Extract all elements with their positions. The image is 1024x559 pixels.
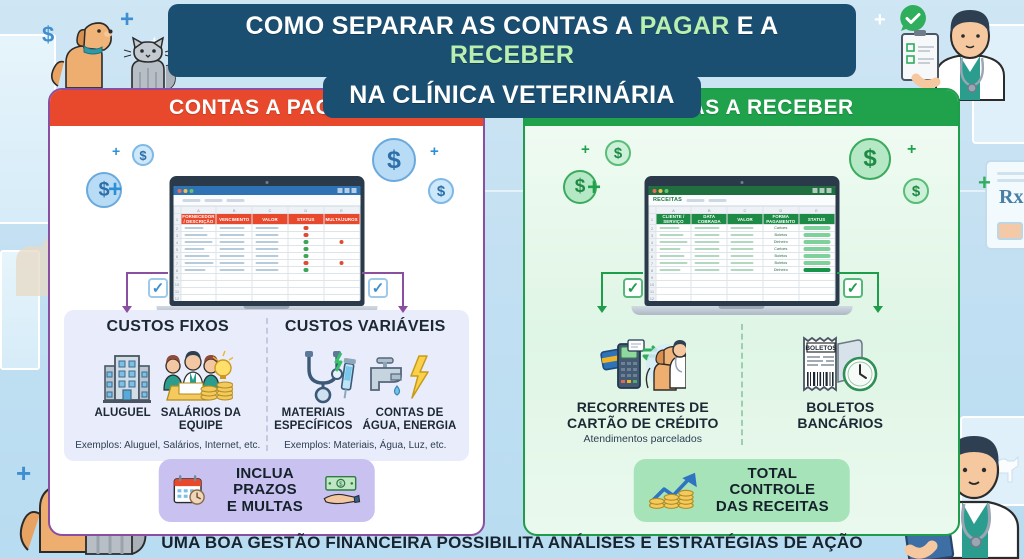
table-row[interactable]: 4 bbox=[174, 239, 360, 246]
icon-label-materiais: MATERIAISESPECÍFICOS bbox=[274, 407, 352, 433]
cell-forma-pagamento: Boletos bbox=[763, 260, 799, 267]
plus-icon: + bbox=[907, 142, 916, 158]
plus-icon: + bbox=[430, 144, 439, 159]
cell-forma-pagamento: Cartoes bbox=[763, 246, 799, 253]
minimize-dot-icon[interactable] bbox=[183, 189, 187, 193]
category-example-variaveis: Exemplos: Materiais, Água, Luz, etc. bbox=[284, 440, 446, 451]
column-letter: E bbox=[799, 207, 835, 214]
plus-icon: + bbox=[112, 144, 120, 158]
table-row[interactable]: 2Cartoes bbox=[649, 225, 835, 232]
maximize-dot-icon[interactable] bbox=[189, 189, 193, 193]
column-header-forma: FORMA PAGAMENTO bbox=[763, 214, 799, 225]
column-letter: A bbox=[656, 207, 692, 214]
column-header-status: STATUS bbox=[799, 214, 835, 225]
stethoscope-syringe-icon bbox=[301, 349, 359, 404]
title-highlight-receber: RECEBER bbox=[450, 41, 574, 69]
row-number: 6 bbox=[649, 253, 656, 260]
boleto-label: BOLETOS bbox=[806, 345, 838, 352]
category-cartao-credito: RECORRENTES DECARTÃO DE CRÉDITO Atendime… bbox=[545, 324, 741, 445]
title-part-2: E A bbox=[730, 12, 779, 40]
dollar-coin-icon: $ bbox=[849, 138, 891, 180]
plus-icon: + bbox=[581, 142, 590, 157]
row-number: 1 bbox=[174, 214, 181, 225]
plus-icon: + bbox=[587, 176, 601, 200]
cell-fornecedor bbox=[181, 253, 217, 260]
column-header-valor: VALOR bbox=[252, 214, 288, 225]
cell-multa bbox=[324, 239, 360, 246]
cell-valor bbox=[252, 225, 288, 232]
column-header-status: STATUS bbox=[288, 214, 324, 225]
checkbox-icon[interactable]: ✓ bbox=[843, 278, 863, 298]
table-row[interactable]: 7 bbox=[174, 260, 360, 267]
cell-valor bbox=[727, 239, 763, 246]
cell-valor bbox=[727, 246, 763, 253]
dollar-coin-icon: $ bbox=[605, 140, 631, 166]
cell-fornecedor bbox=[181, 225, 217, 232]
checkbox-icon[interactable]: ✓ bbox=[368, 278, 388, 298]
connector-lines-receber bbox=[525, 272, 962, 312]
sheet-name-receitas: RECEITAS bbox=[653, 197, 682, 203]
cell-multa bbox=[324, 246, 360, 253]
rx-symbol: Rx bbox=[999, 186, 1023, 209]
cell-status bbox=[799, 246, 835, 253]
table-row[interactable]: 3Boletos bbox=[649, 232, 835, 239]
spreadsheet-toolbar bbox=[173, 195, 360, 206]
cell-valor bbox=[727, 232, 763, 239]
cash-in-hand-icon: $ bbox=[323, 471, 361, 509]
column-letter: D bbox=[763, 207, 799, 214]
table-row[interactable]: 6 bbox=[174, 253, 360, 260]
table-row[interactable]: 3 bbox=[174, 232, 360, 239]
cell-fornecedor bbox=[181, 232, 217, 239]
cell-status bbox=[288, 225, 324, 232]
cell-cliente bbox=[656, 246, 692, 253]
cell-status bbox=[799, 239, 835, 246]
toolbar-item[interactable] bbox=[708, 199, 726, 202]
column-header-vencimento: VENCIMENTO bbox=[216, 214, 252, 225]
card-terminal-vet-dog-icon bbox=[600, 336, 686, 396]
calendar-clock-icon bbox=[172, 470, 207, 510]
row-number: 1 bbox=[649, 214, 656, 225]
cell-data bbox=[691, 232, 727, 239]
category-example-fixos: Exemplos: Aluguel, Salários, Internet, e… bbox=[75, 440, 260, 451]
webcam-icon bbox=[740, 181, 743, 184]
cell-valor bbox=[252, 246, 288, 253]
panel-receber-body: $ $ + + $ $ + + bbox=[525, 126, 958, 536]
boleto-clock-icon: BOLETOS bbox=[800, 334, 880, 396]
callout-line-1: INCLUA PRAZOS bbox=[233, 465, 297, 499]
title-line-2: NA CLÍNICA VETERINÁRIA bbox=[323, 75, 701, 118]
cell-data bbox=[691, 239, 727, 246]
callout-line-1: TOTAL CONTROLE bbox=[729, 465, 815, 499]
row-number: 5 bbox=[649, 246, 656, 253]
category-title: CUSTOS FIXOS bbox=[107, 318, 229, 336]
column-letter: B bbox=[216, 207, 252, 214]
cell-forma-pagamento: Boletos bbox=[763, 253, 799, 260]
category-sub-cartao: Atendimentos parcelados bbox=[584, 433, 703, 445]
cell-status bbox=[288, 239, 324, 246]
window-titlebar bbox=[173, 186, 360, 195]
cell-data bbox=[691, 253, 727, 260]
callout-line-2: E MULTAS bbox=[227, 498, 303, 515]
category-title: CUSTOS VARIÁVEIS bbox=[285, 318, 446, 336]
plus-icon: + bbox=[978, 172, 991, 194]
cell-status bbox=[288, 260, 324, 267]
spreadsheet-toolbar: RECEITAS bbox=[648, 195, 835, 206]
categories-pagar: CUSTOS FIXOS bbox=[64, 310, 469, 461]
cell-valor bbox=[252, 253, 288, 260]
cell-multa bbox=[324, 260, 360, 267]
cell-vencimento bbox=[216, 225, 252, 232]
row-number: 7 bbox=[174, 260, 181, 267]
close-dot-icon[interactable] bbox=[177, 189, 181, 193]
cell-valor bbox=[727, 253, 763, 260]
footer-text: UMA BOA GESTÃO FINANCEIRA POSSIBILITA AN… bbox=[0, 533, 1024, 553]
row-number: 3 bbox=[649, 232, 656, 239]
table-row[interactable]: 5 bbox=[174, 246, 360, 253]
callout-total-controle: TOTAL CONTROLE DAS RECEITAS bbox=[633, 459, 850, 523]
dollar-coin-icon: $ bbox=[132, 144, 154, 166]
row-number: 2 bbox=[649, 225, 656, 232]
row-number: 4 bbox=[174, 239, 181, 246]
column-letter-row: A B C D E bbox=[649, 207, 835, 214]
cell-forma-pagamento: Dinheiro bbox=[763, 239, 799, 246]
toolbar-item[interactable] bbox=[226, 199, 244, 202]
icon-label-contas-agua: CONTAS DEÁGUA, ENERGIA bbox=[362, 407, 456, 433]
column-letter: E bbox=[324, 207, 360, 214]
cell-data bbox=[691, 246, 727, 253]
title-banner: COMO SEPARAR AS CONTAS A PAGAR E A RECEB… bbox=[168, 4, 856, 118]
cell-cliente bbox=[656, 225, 692, 232]
toolbar-item[interactable] bbox=[182, 199, 200, 202]
cell-multa bbox=[324, 232, 360, 239]
cell-status bbox=[288, 232, 324, 239]
cell-fornecedor bbox=[181, 246, 217, 253]
row-number: 5 bbox=[174, 246, 181, 253]
toolbar-item[interactable] bbox=[686, 199, 704, 202]
column-header-cliente: CLIENTE / SERVIÇO bbox=[656, 214, 692, 225]
cell-vencimento bbox=[216, 239, 252, 246]
cell-valor bbox=[252, 232, 288, 239]
table-header-row: 1 CLIENTE / SERVIÇO DATA COBRADA VALOR F… bbox=[649, 214, 835, 225]
panel-contas-a-pagar: CONTAS A PAGAR $ $ + + $ $ + + bbox=[48, 88, 485, 536]
growth-chart-coins-icon bbox=[647, 469, 700, 511]
row-number: 2 bbox=[174, 225, 181, 232]
cell-forma-pagamento: Boletos bbox=[763, 232, 799, 239]
panel-contas-a-receber: CONTAS A RECEBER $ $ + + $ $ + + bbox=[523, 88, 960, 536]
row-number: 3 bbox=[174, 232, 181, 239]
cell-vencimento bbox=[216, 260, 252, 267]
column-header-multa: MULTA/JUROS bbox=[324, 214, 360, 225]
window-titlebar bbox=[648, 186, 835, 195]
cell-status bbox=[799, 253, 835, 260]
window-controls[interactable] bbox=[337, 188, 356, 193]
column-letter: D bbox=[288, 207, 324, 214]
column-letter: A bbox=[181, 207, 217, 214]
table-row[interactable]: 2 bbox=[174, 225, 360, 232]
dollar-coin-icon: $ bbox=[372, 138, 416, 182]
infographic-canvas: Rx + $ + + + + + + bbox=[0, 0, 1024, 559]
table-row[interactable]: 6Boletos bbox=[649, 253, 835, 260]
column-letter-row: A B C D E bbox=[174, 207, 360, 214]
toolbar-item[interactable] bbox=[204, 199, 222, 202]
icon-label-boletos: BOLETOSBANCÁRIOS bbox=[797, 400, 883, 431]
icon-label-salarios: SALÁRIOS DAEQUIPE bbox=[161, 407, 241, 433]
cell-data bbox=[691, 260, 727, 267]
cell-vencimento bbox=[216, 246, 252, 253]
window-controls[interactable] bbox=[812, 188, 831, 193]
column-header-data: DATA COBRADA bbox=[691, 214, 727, 225]
category-boletos: BOLETOS bbox=[741, 324, 939, 445]
table-row[interactable]: 7Boletos bbox=[649, 260, 835, 267]
dollar-coin-icon: $ bbox=[428, 178, 454, 204]
column-header-valor: VALOR bbox=[727, 214, 763, 225]
column-letter: C bbox=[252, 207, 288, 214]
row-number: 6 bbox=[174, 253, 181, 260]
checkbox-icon[interactable]: ✓ bbox=[623, 278, 643, 298]
callout-text-pagar: INCLUA PRAZOS E MULTAS bbox=[216, 466, 314, 516]
table-row[interactable]: 5Cartoes bbox=[649, 246, 835, 253]
plus-icon: + bbox=[874, 10, 886, 30]
cell-fornecedor bbox=[181, 260, 217, 267]
row-number: 4 bbox=[649, 239, 656, 246]
dog-illustration bbox=[44, 14, 122, 94]
cell-cliente bbox=[656, 232, 692, 239]
plus-icon: + bbox=[120, 8, 134, 32]
cell-multa bbox=[324, 253, 360, 260]
cell-cliente bbox=[656, 253, 692, 260]
plus-icon: + bbox=[108, 178, 122, 202]
webcam-icon bbox=[265, 181, 268, 184]
table-header-row: 1 FORNECEDOR / DESCRIÇÃO VENCIMENTO VALO… bbox=[174, 214, 360, 225]
maximize-dot-icon[interactable] bbox=[664, 189, 668, 193]
cell-valor bbox=[252, 260, 288, 267]
callout-line-2: DAS RECEITAS bbox=[716, 498, 829, 515]
minimize-dot-icon[interactable] bbox=[658, 189, 662, 193]
cell-forma-pagamento: Cartoes bbox=[763, 225, 799, 232]
cell-cliente bbox=[656, 239, 692, 246]
category-custos-variaveis: CUSTOS VARIÁVEIS bbox=[266, 318, 464, 451]
corner-cell bbox=[174, 207, 181, 214]
svg-text:$: $ bbox=[339, 481, 343, 488]
title-part-1: COMO SEPARAR AS CONTAS A bbox=[246, 12, 640, 40]
categories-receber: RECORRENTES DECARTÃO DE CRÉDITO Atendime… bbox=[539, 316, 944, 455]
close-dot-icon[interactable] bbox=[652, 189, 656, 193]
building-icon bbox=[103, 352, 151, 404]
cell-status bbox=[288, 246, 324, 253]
cell-valor bbox=[727, 225, 763, 232]
icon-label-aluguel: ALUGUEL bbox=[94, 407, 150, 433]
category-custos-fixos: CUSTOS FIXOS bbox=[70, 318, 266, 451]
cell-multa bbox=[324, 225, 360, 232]
title-line-1: COMO SEPARAR AS CONTAS A PAGAR E A RECEB… bbox=[168, 4, 856, 77]
faucet-bolt-icon bbox=[367, 352, 429, 404]
column-letter: C bbox=[727, 207, 763, 214]
cell-fornecedor bbox=[181, 239, 217, 246]
row-number: 7 bbox=[649, 260, 656, 267]
connector-lines-pagar bbox=[50, 272, 487, 312]
corner-cell bbox=[649, 207, 656, 214]
column-letter: B bbox=[691, 207, 727, 214]
team-icon bbox=[159, 350, 233, 404]
callout-incl ua-prazos: INCLUA PRAZOS E MULTAS $ bbox=[158, 459, 375, 523]
cell-valor bbox=[727, 260, 763, 267]
cell-status bbox=[288, 253, 324, 260]
cell-status bbox=[799, 232, 835, 239]
title-highlight-pagar: PAGAR bbox=[640, 12, 730, 40]
icon-label-cartao: RECORRENTES DECARTÃO DE CRÉDITO bbox=[567, 400, 719, 431]
checkbox-icon[interactable]: ✓ bbox=[148, 278, 168, 298]
cell-valor bbox=[252, 239, 288, 246]
column-header-fornecedor: FORNECEDOR / DESCRIÇÃO bbox=[181, 214, 217, 225]
cell-vencimento bbox=[216, 232, 252, 239]
table-row[interactable]: 4Dinheiro bbox=[649, 239, 835, 246]
cell-status bbox=[799, 260, 835, 267]
cell-vencimento bbox=[216, 253, 252, 260]
cell-cliente bbox=[656, 260, 692, 267]
dollar-coin-icon: $ bbox=[903, 178, 929, 204]
cell-status bbox=[799, 225, 835, 232]
callout-text-receber: TOTAL CONTROLE DAS RECEITAS bbox=[709, 466, 836, 516]
cell-data bbox=[691, 225, 727, 232]
panel-pagar-body: $ $ + + $ $ + + bbox=[50, 126, 483, 536]
